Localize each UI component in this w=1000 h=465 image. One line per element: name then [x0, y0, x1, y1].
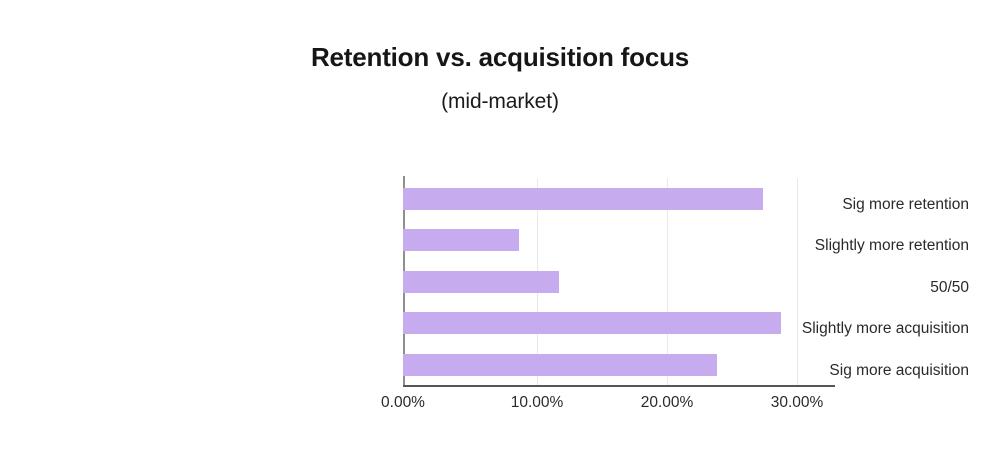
x-axis-line: [403, 385, 835, 387]
y-tick-label-sig-more-acquisition: Sig more acquisition: [639, 361, 969, 381]
x-tick-label-20: 20.00%: [607, 392, 727, 414]
x-tick-label-30: 30.00%: [737, 392, 857, 414]
x-tick-label-0: 0.00%: [343, 392, 463, 414]
y-tick-label-slightly-more-acquisition: Slightly more acquisition: [639, 319, 969, 339]
x-tick-label-10: 10.00%: [477, 392, 597, 414]
y-tick-label-slightly-more-retention: Slightly more retention: [639, 236, 969, 256]
bar-chart-figure: Retention vs. acquisition focus (mid-mar…: [0, 0, 1000, 465]
bar-50-50[interactable]: [403, 271, 559, 293]
y-tick-label-sig-more-retention: Sig more retention: [639, 195, 969, 215]
bar-slightly-more-retention[interactable]: [403, 229, 519, 251]
y-tick-label-50-50: 50/50: [639, 278, 969, 298]
chart-subtitle: (mid-market): [0, 88, 1000, 116]
chart-title: Retention vs. acquisition focus: [0, 41, 1000, 73]
